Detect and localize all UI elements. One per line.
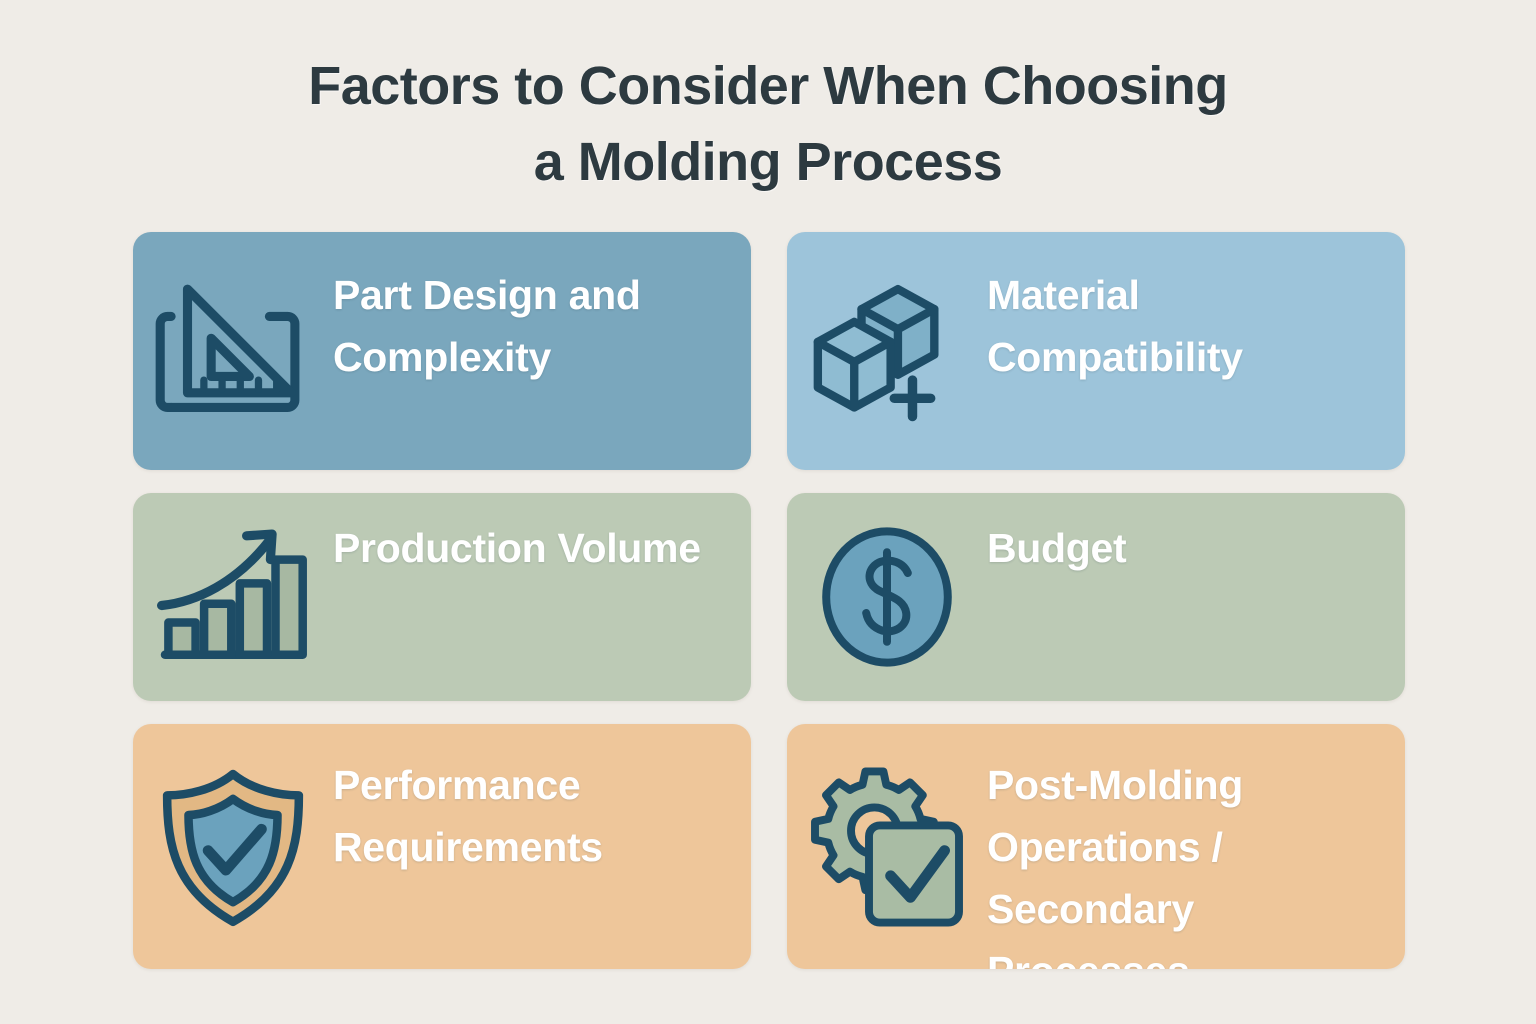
page-title: Factors to Consider When Choosing a Mold…: [0, 48, 1536, 200]
factor-card-label: Production Volume: [333, 493, 751, 579]
factor-card-label: Post-Molding Operations / Secondary Proc…: [987, 724, 1405, 969]
ruler-set-square-icon: [133, 232, 333, 470]
factor-card-material-compatibility[interactable]: Material Compatibility: [787, 232, 1405, 470]
shield-check-icon: [133, 724, 333, 969]
factor-card-label: Budget: [987, 493, 1405, 579]
gear-checkbox-icon: [787, 724, 987, 969]
infographic-page: Factors to Consider When Choosing a Mold…: [0, 0, 1536, 1024]
factor-card-label: Part Design and Complexity: [333, 232, 751, 388]
factor-card-production-volume[interactable]: Production Volume: [133, 493, 751, 701]
factor-card-label: Material Compatibility: [987, 232, 1405, 388]
page-title-line-2: a Molding Process: [0, 124, 1536, 200]
page-title-line-1: Factors to Consider When Choosing: [0, 48, 1536, 124]
factor-card-performance-requirements[interactable]: Performance Requirements: [133, 724, 751, 969]
factor-card-part-design-and-complexity[interactable]: Part Design and Complexity: [133, 232, 751, 470]
factor-card-post-molding-operations[interactable]: Post-Molding Operations / Secondary Proc…: [787, 724, 1405, 969]
stacked-cubes-plus-icon: [787, 232, 987, 470]
factors-grid: Part Design and Complexity: [133, 232, 1405, 969]
dollar-coin-icon: [787, 493, 987, 701]
factor-card-label: Performance Requirements: [333, 724, 751, 878]
bar-chart-growth-arrow-icon: [133, 493, 333, 701]
factor-card-budget[interactable]: Budget: [787, 493, 1405, 701]
